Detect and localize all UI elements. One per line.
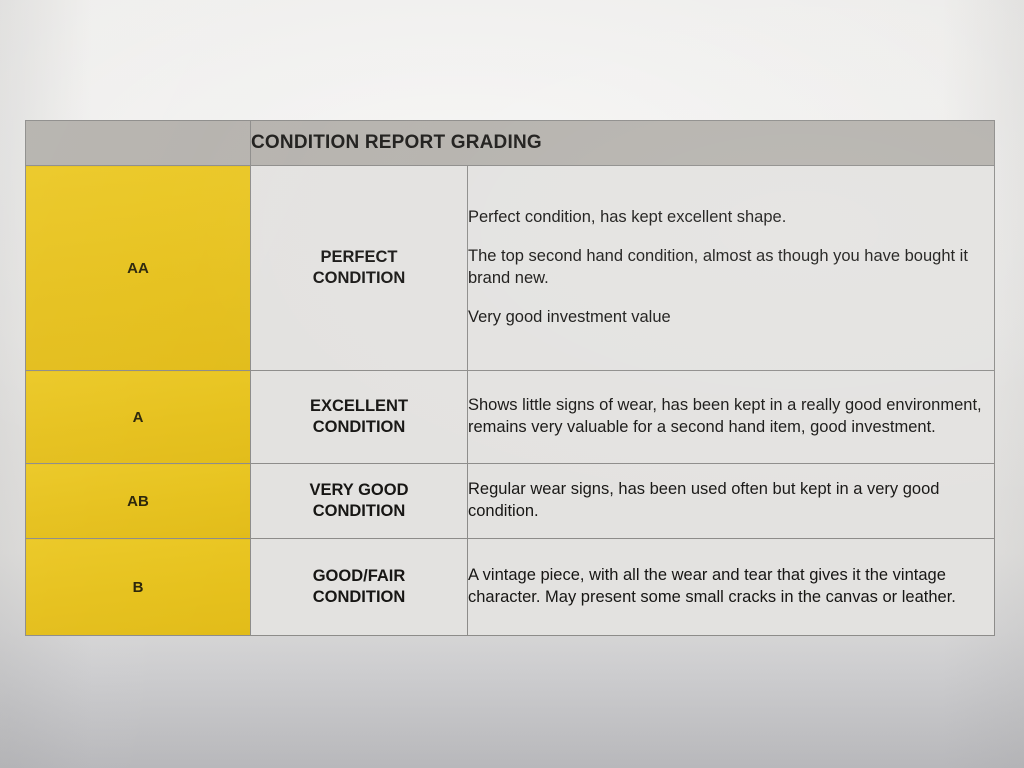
description-paragraph: The top second hand condition, almost as… xyxy=(468,246,994,290)
description-b: A vintage piece, with all the wear and t… xyxy=(468,539,995,636)
description-a: Shows little signs of wear, has been kep… xyxy=(468,371,995,464)
table-row: B GOOD/FAIR CONDITION A vintage piece, w… xyxy=(26,539,995,636)
condition-label-ab: VERY GOOD CONDITION xyxy=(251,464,468,539)
table-row: AB VERY GOOD CONDITION Regular wear sign… xyxy=(26,464,995,539)
header-left-segment xyxy=(26,121,251,166)
description-paragraph: Shows little signs of wear, has been kep… xyxy=(468,395,994,439)
grade-badge-ab: AB xyxy=(26,464,251,539)
table-row: AA PERFECT CONDITION Perfect condition, … xyxy=(26,166,995,371)
condition-label-aa: PERFECT CONDITION xyxy=(251,166,468,371)
condition-label-line2: CONDITION xyxy=(251,587,467,608)
condition-label-line2: CONDITION xyxy=(251,417,467,438)
condition-grading-table: CONDITION REPORT GRADING AA PERFECT COND… xyxy=(25,120,995,636)
condition-label-a: EXCELLENT CONDITION xyxy=(251,371,468,464)
table-header-row: CONDITION REPORT GRADING xyxy=(26,121,995,166)
description-ab: Regular wear signs, has been used often … xyxy=(468,464,995,539)
grade-badge-a: A xyxy=(26,371,251,464)
grade-badge-aa: AA xyxy=(26,166,251,371)
description-aa: Perfect condition, has kept excellent sh… xyxy=(468,166,995,371)
description-paragraph: Perfect condition, has kept excellent sh… xyxy=(468,207,994,229)
page-title: CONDITION REPORT GRADING xyxy=(251,121,995,166)
grade-badge-b: B xyxy=(26,539,251,636)
description-paragraph: Regular wear signs, has been used often … xyxy=(468,479,994,523)
condition-label-line1: GOOD/FAIR xyxy=(251,566,467,587)
description-paragraph: A vintage piece, with all the wear and t… xyxy=(468,565,994,609)
condition-label-line1: EXCELLENT xyxy=(251,396,467,417)
condition-label-b: GOOD/FAIR CONDITION xyxy=(251,539,468,636)
condition-label-line1: PERFECT xyxy=(251,247,467,268)
condition-label-line2: CONDITION xyxy=(251,268,467,289)
description-paragraph: Very good investment value xyxy=(468,307,994,329)
condition-label-line2: CONDITION xyxy=(251,501,467,522)
table-row: A EXCELLENT CONDITION Shows little signs… xyxy=(26,371,995,464)
condition-label-line1: VERY GOOD xyxy=(251,480,467,501)
